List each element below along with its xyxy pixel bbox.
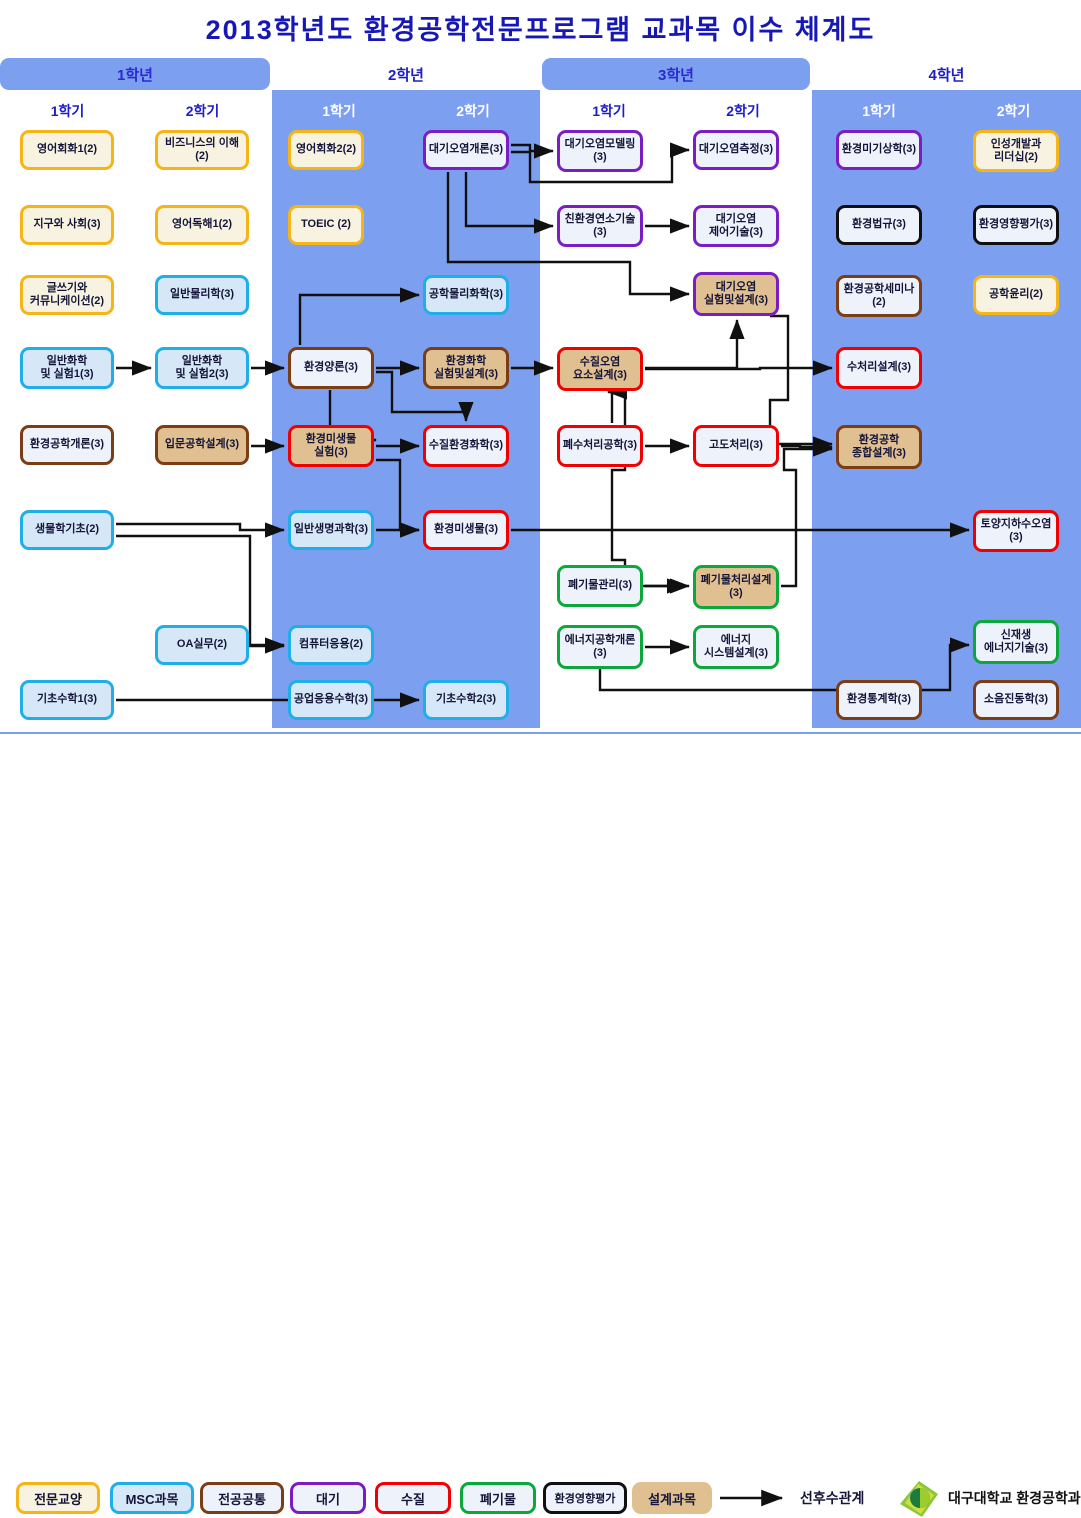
course-node-renewable[interactable]: 신재생 에너지기술(3) xyxy=(973,620,1059,664)
course-node-wastewater[interactable]: 폐수처리공학(3) xyxy=(557,425,643,467)
legend-relation-arrow xyxy=(718,1482,798,1514)
legend-bar: 전문교양MSC과목전공공통대기수질폐기물환경영향평가설계과목 선후수관계 대구대… xyxy=(0,732,1081,796)
course-label: OA실무(2) xyxy=(177,638,227,651)
legend-item-6: 환경영향평가 xyxy=(543,1482,627,1514)
course-label: 비즈니스의 이해 (2) xyxy=(165,137,239,164)
course-node-computer[interactable]: 컴퓨터응용(2) xyxy=(288,625,374,665)
year-band-4: 4학년 xyxy=(812,58,1081,90)
course-node-waterdes[interactable]: 수질오염 요소설계(3) xyxy=(557,347,643,391)
course-label: 일반생명과학(3) xyxy=(294,523,368,536)
course-label: TOEIC (2) xyxy=(301,218,351,231)
course-label: 에너지공학개론 (3) xyxy=(565,634,636,661)
course-node-oa[interactable]: OA실무(2) xyxy=(155,625,249,665)
course-node-basemath2[interactable]: 기초수학2(3) xyxy=(423,680,509,720)
course-node-biobasic[interactable]: 생물학기초(2) xyxy=(20,510,114,550)
legend-item-label: 대기 xyxy=(316,1489,340,1508)
legend-item-4: 수질 xyxy=(375,1482,451,1514)
university-name: 대구대학교 환경공학과 xyxy=(948,1482,1081,1514)
semester-label-6: 1학기 xyxy=(812,100,946,122)
course-node-soilwater[interactable]: 토양지하수오염 (3) xyxy=(973,510,1059,552)
course-label: 환경공학세미나 (2) xyxy=(844,283,915,310)
course-label: 일반화학 및 실험1(3) xyxy=(41,355,94,382)
semester-label-3: 2학기 xyxy=(406,100,540,122)
course-label: 수질오염 요소설계(3) xyxy=(573,356,627,383)
course-node-wastedes[interactable]: 폐기물처리설계 (3) xyxy=(693,565,779,609)
year-label: 2학년 xyxy=(272,58,540,90)
course-label: 수질환경화학(3) xyxy=(429,439,503,452)
course-node-eng1[interactable]: 영어회화1(2) xyxy=(20,130,114,170)
course-label: 기초수학1(3) xyxy=(37,693,97,706)
course-label: 환경공학개론(3) xyxy=(30,438,104,451)
semester-label-0: 1학기 xyxy=(0,100,135,122)
course-node-airintro[interactable]: 대기오염개론(3) xyxy=(423,130,509,170)
course-label: 대기오염측정(3) xyxy=(699,143,773,156)
course-node-engphyschem[interactable]: 공학물리화학(3) xyxy=(423,275,509,315)
legend-item-label: 폐기물 xyxy=(480,1489,516,1508)
course-label: 폐수처리공학(3) xyxy=(563,439,637,452)
course-label: 영어회화1(2) xyxy=(37,143,97,156)
course-label: 공학물리화학(3) xyxy=(429,288,503,301)
course-node-energysys[interactable]: 에너지 시스템설계(3) xyxy=(693,625,779,669)
course-label: 인성개발과 리더십(2) xyxy=(991,138,1042,165)
course-label: 환경법규(3) xyxy=(852,218,906,231)
course-label: 대기오염 실험및설계(3) xyxy=(704,281,768,308)
course-node-genphys[interactable]: 일반물리학(3) xyxy=(155,275,249,315)
course-label: 공업응용수학(3) xyxy=(294,693,368,706)
course-label: 토양지하수오염 (3) xyxy=(981,518,1052,545)
legend-item-label: 설계과목 xyxy=(648,1489,696,1508)
course-label: 대기오염모델링 (3) xyxy=(565,138,636,165)
course-node-toeic[interactable]: TOEIC (2) xyxy=(288,205,364,245)
semester-label-7: 2학기 xyxy=(946,100,1081,122)
course-label: 입문공학설계(3) xyxy=(165,438,239,451)
legend-relation-label: 선후수관계 xyxy=(800,1482,864,1514)
course-node-envbasic[interactable]: 환경양론(3) xyxy=(288,347,374,389)
course-node-genbio[interactable]: 일반생명과학(3) xyxy=(288,510,374,550)
semester-label-1: 2학기 xyxy=(135,100,270,122)
course-node-airmodel[interactable]: 대기오염모델링 (3) xyxy=(557,130,643,172)
course-label: 에너지 시스템설계(3) xyxy=(704,634,768,661)
course-node-envmicro[interactable]: 환경미생물(3) xyxy=(423,510,509,550)
course-node-basemath1[interactable]: 기초수학1(3) xyxy=(20,680,114,720)
course-node-envmicrolab[interactable]: 환경미생물 실험(3) xyxy=(288,425,374,467)
course-node-wastemgmt[interactable]: 폐기물관리(3) xyxy=(557,565,643,607)
course-label: 대기오염개론(3) xyxy=(429,143,503,156)
course-label: 친환경연소기술 (3) xyxy=(565,213,636,240)
course-node-leadership[interactable]: 인성개발과 리더십(2) xyxy=(973,130,1059,172)
legend-item-label: 전문교양 xyxy=(34,1489,82,1508)
course-label: 환경미생물(3) xyxy=(434,523,498,536)
legend-item-label: MSC과목 xyxy=(126,1489,179,1508)
course-node-greencomb[interactable]: 친환경연소기술 (3) xyxy=(557,205,643,247)
course-label: 환경양론(3) xyxy=(304,361,358,374)
legend-item-3: 대기 xyxy=(290,1482,366,1514)
course-node-biz[interactable]: 비즈니스의 이해 (2) xyxy=(155,130,249,170)
course-label: 신재생 에너지기술(3) xyxy=(984,629,1048,656)
course-node-engread1[interactable]: 영어독해1(2) xyxy=(155,205,249,245)
year-band-3: 3학년 xyxy=(542,58,810,90)
course-node-airlabdes[interactable]: 대기오염 실험및설계(3) xyxy=(693,272,779,316)
legend-item-label: 환경영향평가 xyxy=(555,1490,616,1506)
course-node-genchem2[interactable]: 일반화학 및 실험2(3) xyxy=(155,347,249,389)
course-label: 일반화학 및 실험2(3) xyxy=(176,355,229,382)
course-label: 지구와 사회(3) xyxy=(33,218,100,231)
course-label: 폐기물관리(3) xyxy=(568,579,632,592)
course-node-introdes[interactable]: 입문공학설계(3) xyxy=(155,425,249,465)
course-label: 글쓰기와 커뮤니케이션(2) xyxy=(30,282,104,309)
course-node-indmath[interactable]: 공업응용수학(3) xyxy=(288,680,374,720)
course-node-watertreat[interactable]: 수처리설계(3) xyxy=(836,347,922,389)
course-node-ethics[interactable]: 공학윤리(2) xyxy=(973,275,1059,315)
course-label: 영어회화2(2) xyxy=(296,143,356,156)
course-node-eia[interactable]: 환경영향평가(3) xyxy=(973,205,1059,245)
course-node-earth[interactable]: 지구와 사회(3) xyxy=(20,205,114,245)
course-node-waterchem[interactable]: 수질환경화학(3) xyxy=(423,425,509,467)
course-label: 환경화학 실험및설계(3) xyxy=(434,355,498,382)
year-label: 4학년 xyxy=(812,58,1081,90)
course-node-envlaw[interactable]: 환경법규(3) xyxy=(836,205,922,245)
course-node-noise[interactable]: 소음진동학(3) xyxy=(973,680,1059,720)
course-node-energyintro[interactable]: 에너지공학개론 (3) xyxy=(557,625,643,669)
course-node-micromet[interactable]: 환경미기상학(3) xyxy=(836,130,922,170)
course-label: 수처리설계(3) xyxy=(847,361,911,374)
legend-item-label: 수질 xyxy=(401,1489,425,1508)
course-label: 환경공학 종합설계(3) xyxy=(852,434,906,461)
course-label: 환경통계학(3) xyxy=(847,693,911,706)
course-label: 대기오염 제어기술(3) xyxy=(709,213,763,240)
course-label: 기초수학2(3) xyxy=(436,693,496,706)
year-label: 1학년 xyxy=(0,58,270,90)
course-label: 환경영향평가(3) xyxy=(979,218,1053,231)
legend-item-5: 폐기물 xyxy=(460,1482,536,1514)
course-label: 소음진동학(3) xyxy=(984,693,1048,706)
course-label: 고도처리(3) xyxy=(709,439,763,452)
course-label: 일반물리학(3) xyxy=(170,288,234,301)
course-node-envchemlab[interactable]: 환경화학 실험및설계(3) xyxy=(423,347,509,389)
legend-item-2: 전공공통 xyxy=(200,1482,284,1514)
course-node-envintro[interactable]: 환경공학개론(3) xyxy=(20,425,114,465)
semester-label-2: 1학기 xyxy=(272,100,406,122)
course-node-genchem1[interactable]: 일반화학 및 실험1(3) xyxy=(20,347,114,389)
year-band-2: 2학년 xyxy=(272,58,540,90)
year-band-1: 1학년 xyxy=(0,58,270,90)
course-node-capstone[interactable]: 환경공학 종합설계(3) xyxy=(836,425,922,469)
course-node-envstat[interactable]: 환경통계학(3) xyxy=(836,680,922,720)
course-node-seminar[interactable]: 환경공학세미나 (2) xyxy=(836,275,922,317)
semester-label-4: 1학기 xyxy=(542,100,676,122)
course-node-writing[interactable]: 글쓰기와 커뮤니케이션(2) xyxy=(20,275,114,315)
course-label: 폐기물처리설계 (3) xyxy=(701,574,772,601)
course-label: 환경미생물 실험(3) xyxy=(306,433,357,460)
course-node-airmeas[interactable]: 대기오염측정(3) xyxy=(693,130,779,170)
course-node-advtreat[interactable]: 고도처리(3) xyxy=(693,425,779,467)
legend-item-7: 설계과목 xyxy=(632,1482,712,1514)
legend-item-1: MSC과목 xyxy=(110,1482,194,1514)
course-label: 생물학기초(2) xyxy=(35,523,99,536)
semester-label-5: 2학기 xyxy=(676,100,810,122)
university-logo-icon xyxy=(898,1480,940,1518)
course-node-airctrl[interactable]: 대기오염 제어기술(3) xyxy=(693,205,779,247)
course-label: 환경미기상학(3) xyxy=(842,143,916,156)
page-title: 2013학년도 환경공학전문프로그램 교과목 이수 체계도 xyxy=(0,8,1081,47)
course-label: 컴퓨터응용(2) xyxy=(299,638,363,651)
legend-item-0: 전문교양 xyxy=(16,1482,100,1514)
year-label: 3학년 xyxy=(542,58,810,90)
legend-item-label: 전공공통 xyxy=(218,1489,266,1508)
course-label: 공학윤리(2) xyxy=(989,288,1043,301)
course-label: 영어독해1(2) xyxy=(172,218,232,231)
course-node-eng2[interactable]: 영어회화2(2) xyxy=(288,130,364,170)
